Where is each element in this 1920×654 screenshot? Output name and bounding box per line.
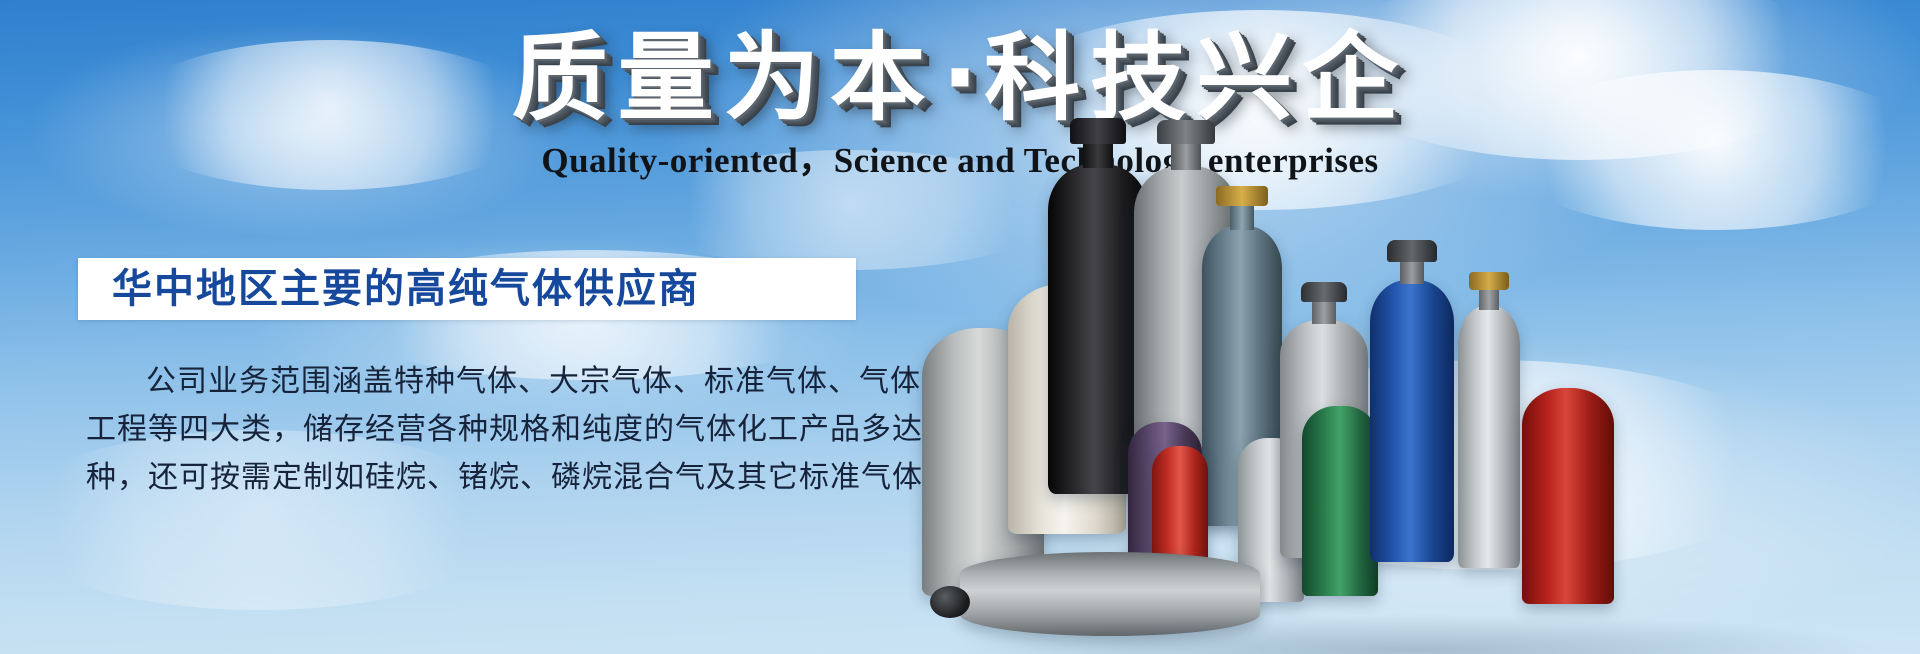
hero-banner: 质量为本·科技兴企 Quality-oriented，Science and T… — [0, 0, 1920, 654]
cylinder-neck — [1230, 204, 1254, 230]
silver-slim-cylinder — [1458, 306, 1520, 568]
cylinder-neck — [1171, 142, 1201, 170]
tagline-box: 华中地区主要的高纯气体供应商 — [78, 258, 856, 320]
tagline-text: 华中地区主要的高纯气体供应商 — [78, 265, 700, 313]
cylinder-valve-cap — [1070, 118, 1126, 144]
brass-valve — [1469, 272, 1509, 290]
cylinder-valve-cap — [1157, 120, 1215, 144]
cylinder-valve-cap — [1301, 282, 1347, 302]
cylinder-neck — [1312, 300, 1336, 324]
cylinder-neck — [1400, 260, 1424, 284]
group-ground-shadow — [940, 614, 1890, 654]
banner-body-copy: 公司业务范围涵盖特种气体、大宗气体、标准气体、气体管道 工程等四大类，储存经营各… — [86, 358, 866, 502]
green-cylinder — [1302, 406, 1378, 596]
cylinder-valve-cap — [1387, 240, 1437, 262]
body-line: 公司业务范围涵盖特种气体、大宗气体、标准气体、气体管道 — [86, 358, 866, 406]
body-line: 工程等四大类，储存经营各种规格和纯度的气体化工产品多达上百 — [86, 406, 866, 454]
body-line: 种，还可按需定制如硅烷、锗烷、磷烷混合气及其它标准气体。 — [86, 454, 866, 502]
red-large-cylinder — [1522, 388, 1614, 604]
gas-cylinder-group — [900, 0, 1920, 654]
blue-tall-cylinder — [1370, 280, 1454, 562]
brass-valve — [1216, 186, 1268, 206]
headline-left: 质量为本 — [512, 22, 936, 134]
cylinder-neck — [1479, 288, 1499, 310]
